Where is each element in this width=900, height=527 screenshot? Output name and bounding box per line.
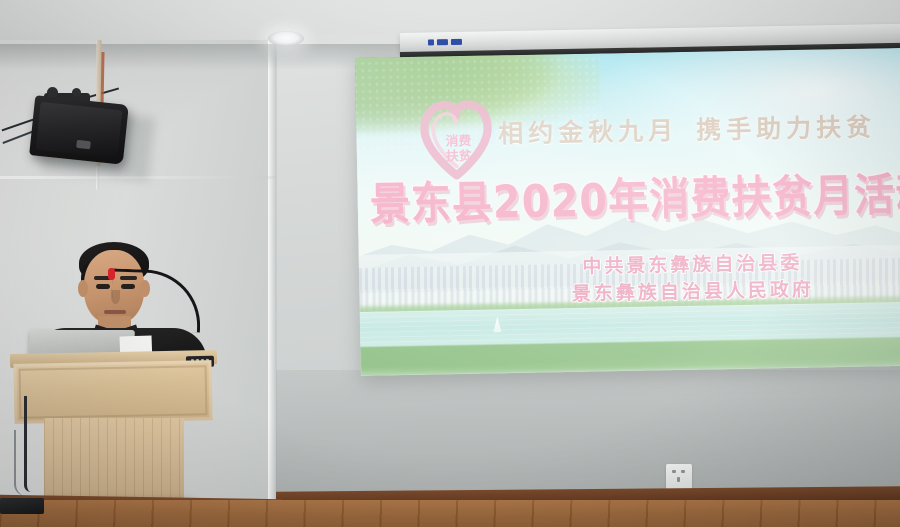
banner-organizers: 中共景东彝族自治县委 景东彝族自治县人民政府	[537, 249, 849, 309]
banner-tagline: 相约金秋九月携手助力扶贫	[498, 107, 877, 150]
tagline-left: 相约金秋九月	[498, 116, 679, 148]
banner-headline: 景东县2020年消费扶贫月活动启动仪式	[369, 155, 900, 233]
logo-text-line1: 消费	[446, 133, 472, 149]
wall-speaker-icon	[29, 95, 129, 164]
ear-left	[78, 280, 88, 297]
conference-room-photo: 消费 扶贫 相约金秋九月携手助力扶贫 景东县2020年消费扶贫月活动启动仪式 中…	[0, 0, 900, 527]
power-outlet-icon	[666, 464, 692, 489]
speaker-badge	[76, 140, 91, 149]
eye-left	[96, 284, 110, 289]
housing-label	[428, 39, 462, 46]
projection-screen: 消费 扶贫 相约金秋九月携手助力扶贫 景东县2020年消费扶贫月活动启动仪式 中…	[355, 48, 900, 376]
organizer-line-2: 景东彝族自治县人民政府	[537, 276, 849, 309]
microphone-indicator	[108, 268, 115, 280]
podium-front-panel	[13, 360, 212, 424]
podium-cable-grey	[14, 430, 26, 496]
logo-text-line2: 扶贫	[446, 148, 472, 164]
tagline-right: 携手助力扶贫	[696, 112, 877, 144]
floor-equipment-box	[0, 498, 44, 514]
ceiling-downlight-icon	[268, 31, 304, 46]
floor-planks	[0, 500, 900, 527]
